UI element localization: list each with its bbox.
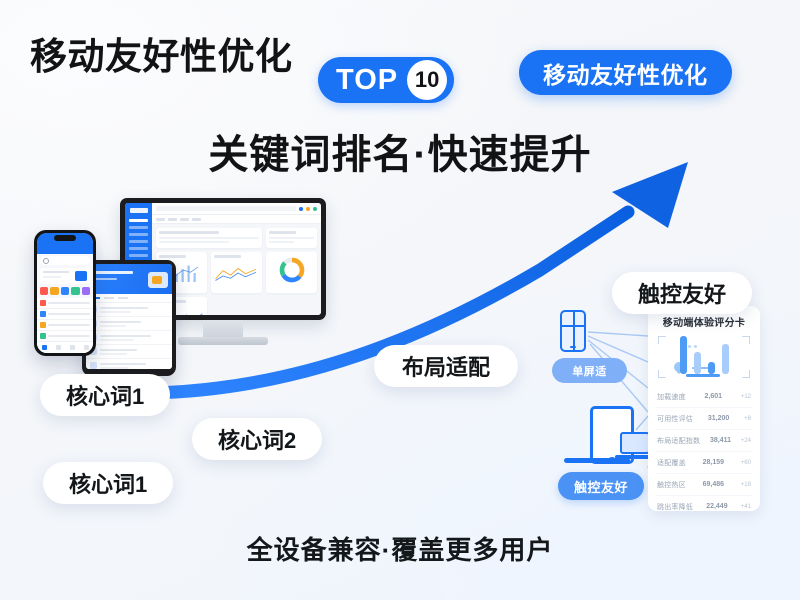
scorecard-row-value: 2,601 <box>705 393 723 400</box>
scorecard-row-value: 69,486 <box>703 481 724 488</box>
donut-chart <box>278 256 306 284</box>
device-mockups <box>22 182 342 382</box>
diagram-base-bar <box>564 458 630 463</box>
diagram-pill-single-screen: 单屏适 <box>552 358 627 383</box>
search-icon <box>43 258 49 264</box>
scorecard-row: 跳出率降低22,449+41 <box>656 496 752 517</box>
scorecard-row-label: 适配覆盖 <box>657 458 686 468</box>
scorecard-row-value: 38,411 <box>710 437 731 444</box>
monitor-stand <box>203 320 243 338</box>
scorecard-row-delta: +24 <box>741 438 751 444</box>
scorecard-row: 触控热区69,486+18 <box>656 474 752 496</box>
scorecard-bars <box>658 336 750 374</box>
phone-mockup <box>34 230 96 356</box>
tablet-tabs <box>86 294 172 303</box>
header-tag-pill: 移动友好性优化 <box>519 50 732 95</box>
footer-text: 全设备兼容·覆盖更多用户 <box>0 530 800 567</box>
diagram-pill-touch-friendly: 触控友好 <box>558 472 644 500</box>
scorecard-bar <box>680 336 687 374</box>
list-item <box>86 331 172 345</box>
dashboard-topbar <box>152 203 321 215</box>
line-spark-chart <box>214 261 259 285</box>
scorecard-bar <box>722 344 729 374</box>
scorecard-row-value: 22,449 <box>706 503 727 510</box>
list-item <box>37 320 93 331</box>
scorecard-chart <box>658 336 750 378</box>
dashboard-donut-card <box>266 252 317 293</box>
dashboard-card <box>211 252 262 293</box>
scorecard-row-label: 触控热区 <box>657 480 686 490</box>
callout-layout-adaptation[interactable]: 布局适配 <box>374 345 518 387</box>
scorecard-row: 布局适配指数38,411+24 <box>656 430 752 452</box>
scorecard-row-delta: +8 <box>744 416 751 422</box>
top-badge-word: TOP <box>336 66 398 95</box>
callout-touch-friendly[interactable]: 触控友好 <box>612 272 752 314</box>
phone-tab-bar <box>37 341 93 353</box>
list-item <box>37 298 93 309</box>
top10-badge: TOP 10 <box>318 57 454 103</box>
dashboard-filter-bar <box>152 215 321 224</box>
keyword-pill-3[interactable]: 核心词1 <box>43 462 173 504</box>
scorecard-row: 适配覆盖28,159+60 <box>656 452 752 474</box>
list-item <box>86 345 172 359</box>
scorecard-panel: 移动端体验评分卡 加载速度2,601+12可用性评估31,200+8布局适配指数… <box>648 306 760 511</box>
scorecard-row-value: 28,159 <box>703 459 724 466</box>
list-item <box>86 317 172 331</box>
scorecard-row-label: 布局适配指数 <box>657 436 700 446</box>
scorecard-rows: 加载速度2,601+12可用性评估31,200+8布局适配指数38,411+24… <box>656 386 752 517</box>
scorecard-row-delta: +60 <box>741 460 751 466</box>
scorecard-bar <box>694 352 701 374</box>
scorecard-row-delta: +18 <box>741 482 751 488</box>
dashboard-card <box>266 228 317 248</box>
scorecard-row: 加载速度2,601+12 <box>656 386 752 408</box>
list-item <box>37 309 93 320</box>
scorecard-row-label: 加载速度 <box>657 392 686 402</box>
tablet-hero-banner <box>86 264 172 294</box>
scorecard-bar <box>708 362 715 374</box>
scorecard-title: 移动端体验评分卡 <box>656 314 752 329</box>
phone-search-bar <box>40 256 90 265</box>
keyword-pill-1[interactable]: 核心词1 <box>40 374 170 416</box>
scorecard-row: 可用性评估31,200+8 <box>656 408 752 430</box>
scorecard-row-label: 跳出率降低 <box>657 502 693 512</box>
tablet-mockup <box>82 260 176 376</box>
diagram-phone-small-icon <box>560 310 586 352</box>
phone-notch <box>54 235 76 241</box>
dashboard-card <box>156 228 262 248</box>
page-title: 移动友好性优化 <box>30 26 293 80</box>
scorecard-row-delta: +12 <box>741 394 751 400</box>
mobile-experience-diagram: 单屏适 触控友好 移动端体验评分卡 加载速度2,601+12可用性评估31,20… <box>548 300 763 515</box>
top-badge-number: 10 <box>407 60 447 100</box>
scorecard-row-value: 31,200 <box>708 415 729 422</box>
list-item <box>86 359 172 369</box>
keyword-pill-2[interactable]: 核心词2 <box>192 418 322 460</box>
scorecard-row-delta: +41 <box>741 504 751 510</box>
phone-banner <box>40 268 90 284</box>
phone-quick-icons <box>37 287 93 298</box>
list-item <box>86 303 172 317</box>
poster-canvas: 移动友好性优化 TOP 10 移动友好性优化 关键词排名·快速提升 <box>0 0 800 600</box>
scorecard-row-label: 可用性评估 <box>657 414 693 424</box>
monitor-foot <box>178 337 268 345</box>
